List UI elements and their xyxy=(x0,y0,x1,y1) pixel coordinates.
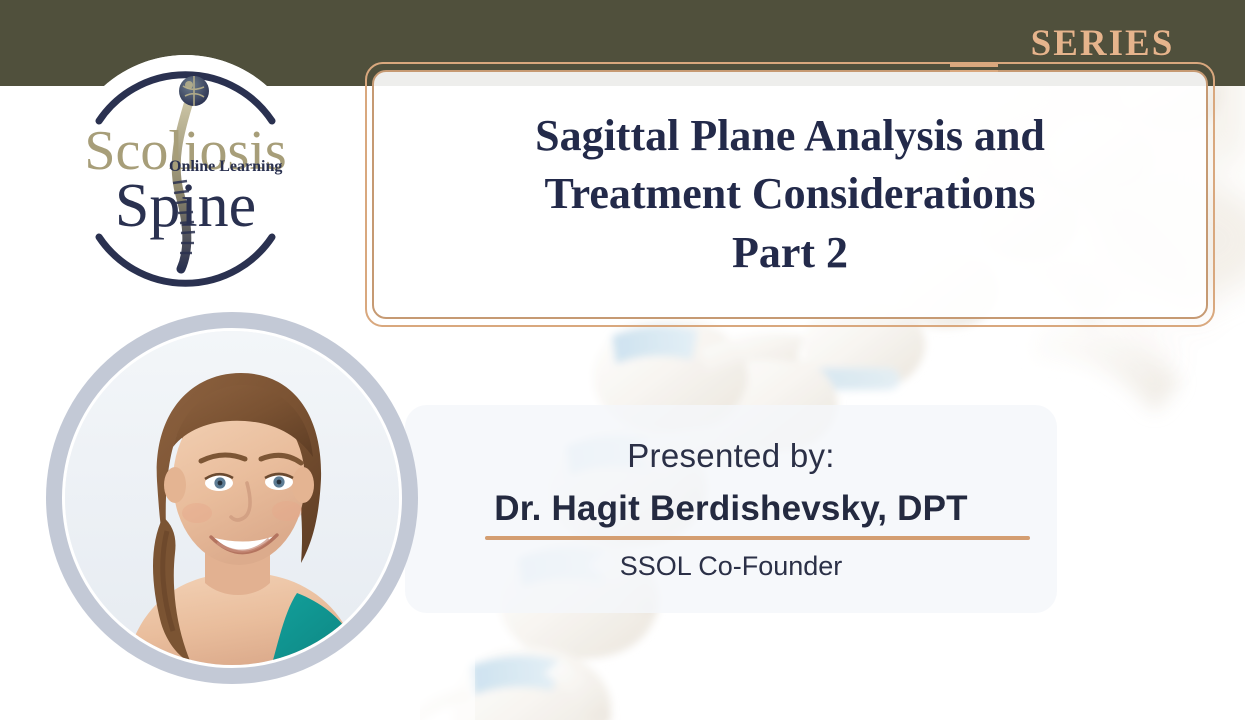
brand-logo: Scoliosis Online Learning Spine xyxy=(63,55,308,300)
logo-word-spine: Spine xyxy=(63,175,308,237)
presenter-name: Dr. Hagit Berdishevsky, DPT xyxy=(405,489,1057,529)
title-line-1: Sagittal Plane Analysis and xyxy=(535,107,1045,165)
presenter-divider xyxy=(485,536,1030,540)
presenter-avatar xyxy=(62,328,402,668)
presenter-avatar-ring xyxy=(46,312,418,684)
series-badge: SERIES xyxy=(960,0,1245,86)
slide-canvas: SERIES Sagittal Plane Analysis and Treat… xyxy=(0,0,1245,720)
presenter-panel: Presented by: Dr. Hagit Berdishevsky, DP… xyxy=(405,405,1057,613)
title-line-2: Treatment Considerations xyxy=(545,165,1036,223)
title-box: Sagittal Plane Analysis and Treatment Co… xyxy=(372,70,1208,319)
title-line-3: Part 2 xyxy=(732,224,848,282)
presenter-role: SSOL Co-Founder xyxy=(405,551,1057,582)
series-label: SERIES xyxy=(1031,25,1175,62)
presenter-headshot-image xyxy=(65,331,402,668)
presented-by-label: Presented by: xyxy=(405,437,1057,475)
